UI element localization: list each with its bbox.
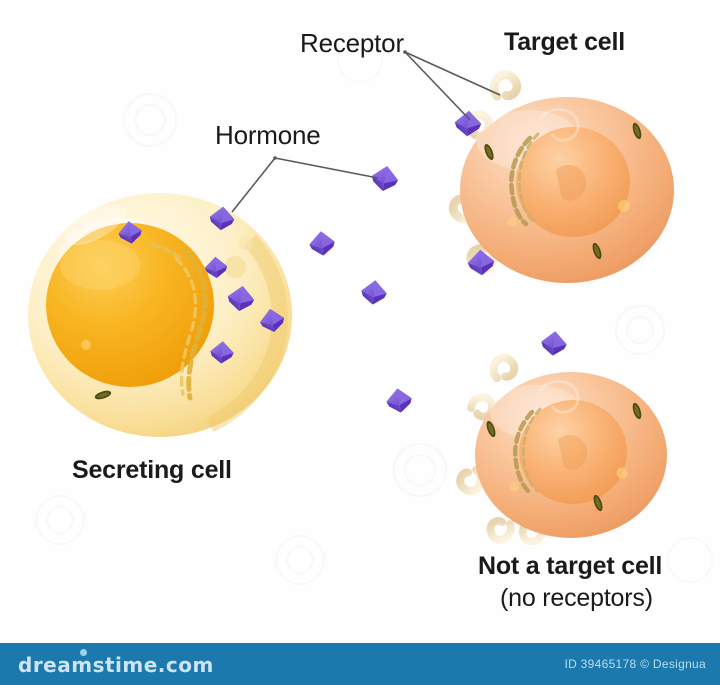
target-cell: [449, 71, 674, 283]
not-a-target-cell: [456, 354, 667, 543]
dreamstime-logo-dot: [80, 649, 87, 656]
hormone-crystal: [385, 387, 414, 415]
hormone-crystal: [540, 330, 568, 357]
label-secreting-cell: Secreting cell: [72, 456, 232, 485]
label-no-receptors: (no receptors): [500, 584, 653, 613]
illustration-canvas: Receptor Hormone Target cell Secreting c…: [0, 0, 720, 685]
stock-watermark-footer: dreamstime.com ID 39465178 © Designua: [0, 643, 720, 685]
label-target-cell: Target cell: [504, 28, 625, 57]
dreamstime-logo[interactable]: dreamstime.com: [18, 653, 214, 677]
hormone-crystal: [360, 279, 388, 306]
image-id-credit: ID 39465178 © Designua: [564, 657, 706, 671]
label-not-a-target-cell: Not a target cell: [478, 552, 662, 581]
diagram-artwork: [0, 0, 720, 685]
hormone-crystal: [370, 164, 401, 194]
secreting-cell: [28, 193, 292, 437]
label-hormone: Hormone: [215, 120, 321, 151]
label-receptor: Receptor: [300, 28, 404, 59]
hormone-crystal: [308, 230, 336, 257]
